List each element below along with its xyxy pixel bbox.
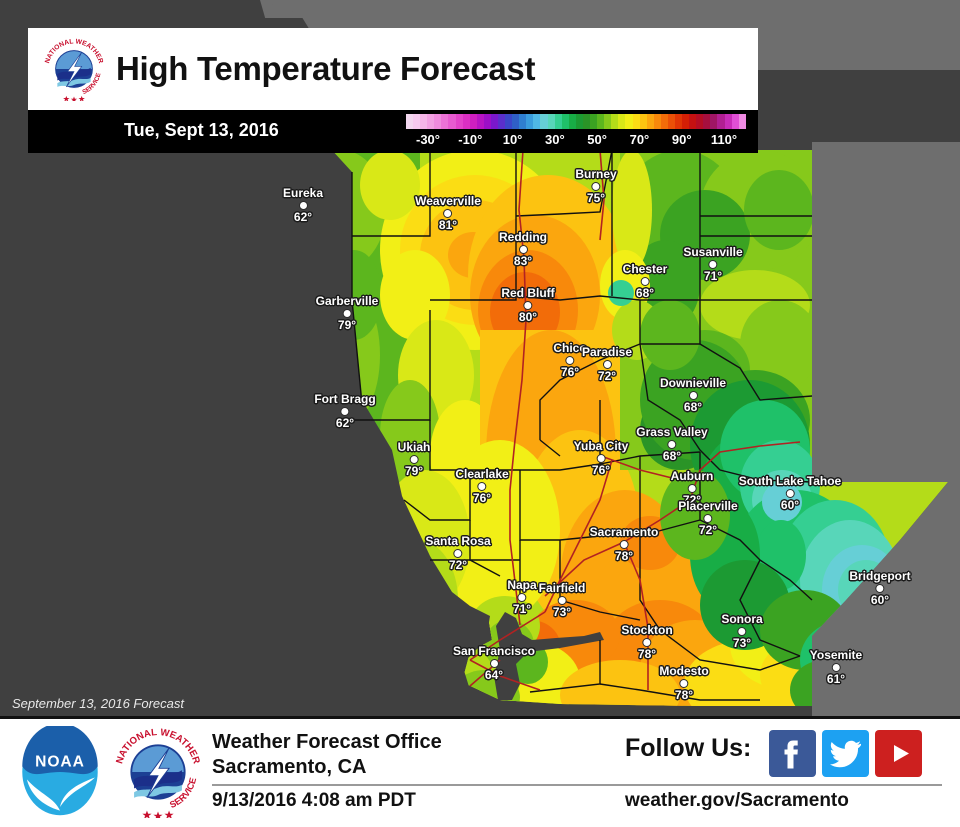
color-scale-swatch (682, 114, 689, 129)
color-scale-swatch (597, 114, 604, 129)
color-scale-swatch (590, 114, 597, 129)
office-name: Weather Forecast Office Sacramento, CA (212, 730, 442, 780)
title-banner: NATIONAL WEATHER SERVICE High Temperatur… (28, 28, 758, 153)
color-scale-swatch (456, 114, 463, 129)
color-scale-swatch (689, 114, 696, 129)
color-scale-tick: -10° (458, 132, 482, 147)
color-scale-swatch (710, 114, 717, 129)
color-scale-swatch (448, 114, 455, 129)
banner-title-row: NATIONAL WEATHER SERVICE High Temperatur… (28, 28, 758, 110)
color-scale-swatch (696, 114, 703, 129)
facebook-icon[interactable] (769, 730, 816, 777)
color-scale-swatch (661, 114, 668, 129)
color-scale-swatch (725, 114, 732, 129)
footer-divider (212, 784, 942, 786)
color-scale-swatch (625, 114, 632, 129)
color-scale-swatch (526, 114, 533, 129)
color-scale-swatch (505, 114, 512, 129)
color-scale-swatch (427, 114, 434, 129)
color-scale-swatch (512, 114, 519, 129)
color-scale-swatch (569, 114, 576, 129)
color-scale-swatch (463, 114, 470, 129)
color-scale-swatch (562, 114, 569, 129)
color-scale-swatch (675, 114, 682, 129)
color-scale-swatch (647, 114, 654, 129)
office-line-2: Sacramento, CA (212, 755, 442, 780)
website-link[interactable]: weather.gov/Sacramento (625, 790, 849, 812)
color-scale-swatch (491, 114, 498, 129)
color-scale-tick: 70° (630, 132, 650, 147)
color-scale-swatch (576, 114, 583, 129)
color-scale-swatch (732, 114, 739, 129)
color-scale-swatch (519, 114, 526, 129)
color-scale-tick: 50° (587, 132, 607, 147)
color-scale-swatch (484, 114, 491, 129)
issuance-timestamp: 9/13/2016 4:08 am PDT (212, 790, 416, 812)
noaa-logo: NOAA (14, 726, 106, 818)
color-scale-swatch (739, 114, 746, 129)
color-scale-swatch (413, 114, 420, 129)
color-scale-tick: 10° (503, 132, 523, 147)
twitter-icon[interactable] (822, 730, 869, 777)
color-scale-swatch (477, 114, 484, 129)
color-scale-swatch (406, 114, 413, 129)
color-scale-bar (406, 114, 746, 129)
color-scale-ticks: -30°-10°10°30°50°70°90°110° (406, 132, 746, 154)
nws-logo: NATIONAL WEATHER SERVICE (42, 37, 106, 101)
color-scale-swatch (434, 114, 441, 129)
color-scale-swatch (717, 114, 724, 129)
weather-forecast-graphic: Eureka62°Weaverville81°Burney75°Redding8… (0, 0, 960, 827)
color-scale-swatch (555, 114, 562, 129)
color-scale-swatch (611, 114, 618, 129)
color-scale-swatch (640, 114, 647, 129)
color-scale-swatch (654, 114, 661, 129)
forecast-date: Tue, Sept 13, 2016 (124, 120, 279, 141)
color-scale-tick: -30° (416, 132, 440, 147)
banner-date-row: Tue, Sept 13, 2016 -30°-10°10°30°50°70°9… (28, 110, 758, 153)
color-scale-swatch (668, 114, 675, 129)
svg-text:NOAA: NOAA (35, 753, 85, 770)
color-scale-swatch (470, 114, 477, 129)
color-scale-tick: 30° (545, 132, 565, 147)
map-caption: September 13, 2016 Forecast (12, 696, 184, 711)
color-scale-swatch (533, 114, 540, 129)
color-scale-tick: 110° (711, 132, 737, 147)
color-scale-swatch (548, 114, 555, 129)
office-line-1: Weather Forecast Office (212, 730, 442, 755)
color-scale-swatch (583, 114, 590, 129)
color-scale-swatch (604, 114, 611, 129)
youtube-icon[interactable] (875, 730, 922, 777)
color-scale-swatch (703, 114, 710, 129)
color-scale-swatch (441, 114, 448, 129)
color-scale-swatch (498, 114, 505, 129)
color-scale-swatch (540, 114, 547, 129)
follow-us-label: Follow Us: (625, 734, 751, 763)
page-title: High Temperature Forecast (116, 50, 535, 88)
temperature-color-scale: -30°-10°10°30°50°70°90°110° (406, 114, 746, 154)
footer-top-rule (0, 716, 960, 719)
color-scale-swatch (420, 114, 427, 129)
color-scale-swatch (618, 114, 625, 129)
color-scale-tick: 90° (672, 132, 692, 147)
nws-logo-footer: NATIONAL WEATHER SERVICE (112, 726, 204, 818)
color-scale-swatch (633, 114, 640, 129)
